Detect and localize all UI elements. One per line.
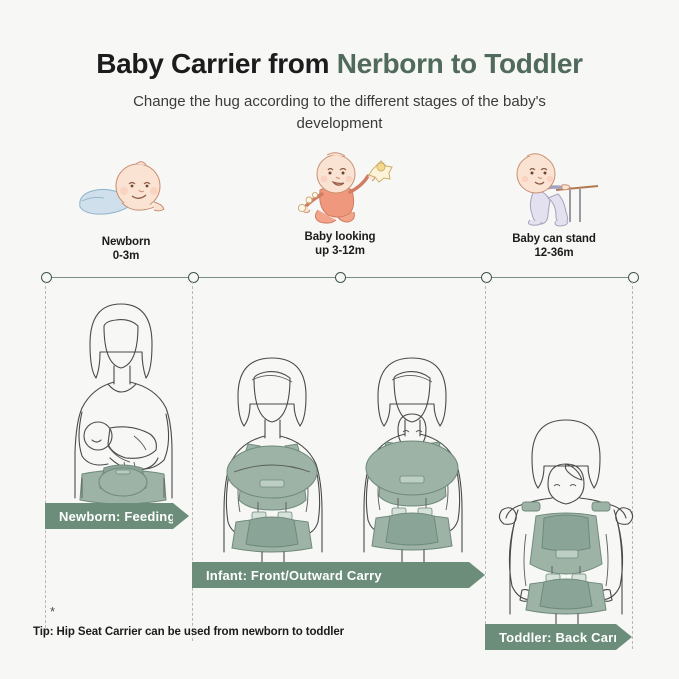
baby-sitting-with-rattle-icon: [250, 150, 430, 220]
stage-caption: Newborn 0-3m: [36, 235, 216, 263]
stage-baby-looking-up: Baby looking up 3-12m: [250, 150, 430, 258]
banner-newborn-feeding[interactable]: Newborn: Feeding: [45, 503, 189, 529]
timeline-marker-1[interactable]: [41, 272, 52, 283]
panel-infant-front-carry: [200, 352, 345, 572]
arrow-banner-icon: [173, 503, 189, 529]
banner-body: Infant: Front/Outward Carry: [192, 562, 469, 588]
timeline-marker-2[interactable]: [188, 272, 199, 283]
footnote-asterisk: *: [50, 604, 55, 619]
panel-toddler-back-carry: [492, 414, 640, 634]
banner-label: Newborn: Feeding: [45, 509, 176, 524]
stage-caption-line2: 12-36m: [464, 246, 644, 260]
page-subtitle: Change the hug according to the differen…: [113, 91, 566, 135]
stage-newborn: Newborn 0-3m: [36, 155, 216, 263]
timeline-marker-5[interactable]: [628, 272, 639, 283]
banner-infant-front-outward-carry[interactable]: Infant: Front/Outward Carry: [192, 562, 485, 588]
stage-caption-line2: up 3-12m: [250, 244, 430, 258]
baby-standing-holding-rail-icon: [464, 152, 644, 222]
stage-caption-line1: Baby looking: [250, 230, 430, 244]
infographic-root: Baby Carrier from Nerborn to Toddler Cha…: [0, 0, 679, 679]
banner-body: Newborn: Feeding: [45, 503, 173, 529]
title-plain-text: Baby Carrier from: [96, 48, 336, 79]
banner-label: Infant: Front/Outward Carry: [192, 568, 382, 583]
stage-baby-can-stand: Baby can stand 12-36m: [464, 152, 644, 260]
stage-caption-line1: Newborn: [36, 235, 216, 249]
timeline-marker-3[interactable]: [335, 272, 346, 283]
panel-infant-outward-carry: [340, 352, 485, 572]
stage-caption-line1: Baby can stand: [464, 232, 644, 246]
timeline-marker-4[interactable]: [481, 272, 492, 283]
banner-body: Toddler: Back Carry: [485, 624, 616, 650]
stage-caption: Baby can stand 12-36m: [464, 232, 644, 260]
arrow-banner-icon: [616, 624, 632, 650]
stage-caption: Baby looking up 3-12m: [250, 230, 430, 258]
baby-lying-on-tummy-icon: [36, 155, 216, 225]
page-title: Baby Carrier from Nerborn to Toddler: [0, 48, 679, 80]
panel-newborn-feeding: [46, 292, 196, 522]
banner-toddler-back-carry[interactable]: Toddler: Back Carry: [485, 624, 632, 650]
title-accent-text: Nerborn to Toddler: [337, 48, 583, 79]
timeline-divider-4: [485, 281, 486, 649]
banner-label: Toddler: Back Carry: [485, 630, 626, 645]
arrow-banner-icon: [469, 562, 485, 588]
stage-caption-line2: 0-3m: [36, 249, 216, 263]
footnote-tip: Tip: Hip Seat Carrier can be used from n…: [33, 626, 344, 638]
